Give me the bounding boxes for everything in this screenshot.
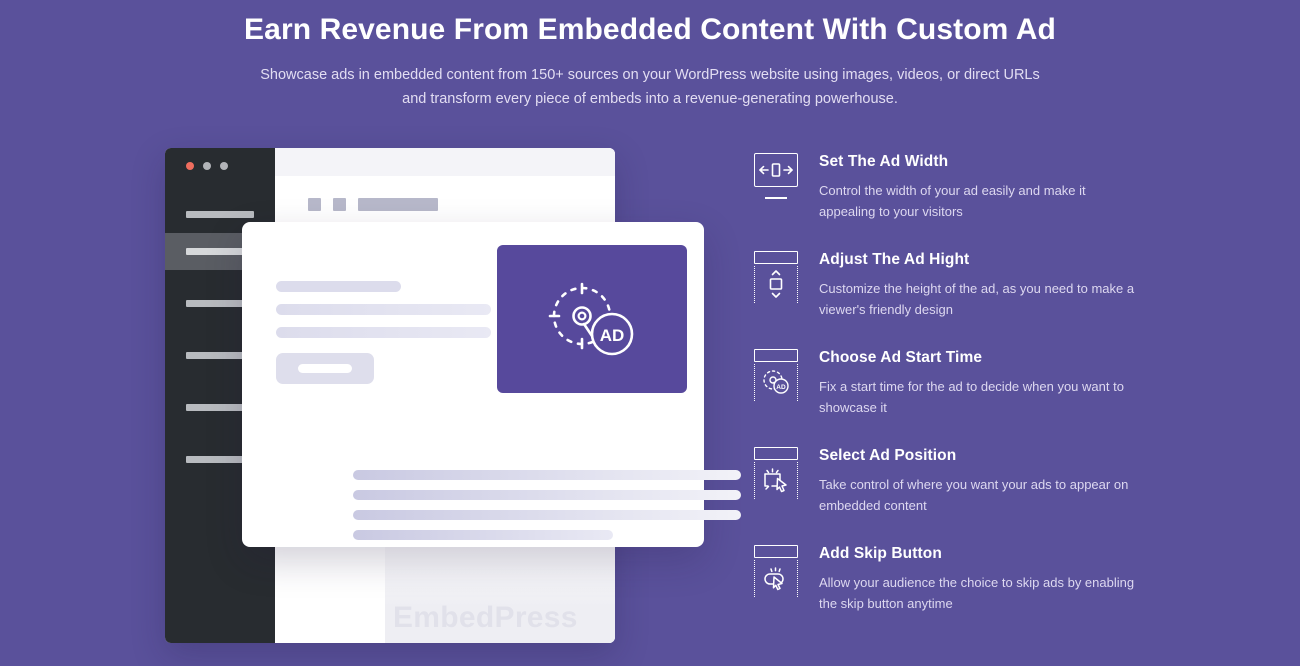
feature-text: Adjust The Ad Hight Customize the height…: [800, 249, 1137, 320]
text-placeholder-line: [276, 304, 491, 315]
height-arrows-icon: [766, 267, 786, 301]
text-placeholder-line: [276, 327, 491, 338]
ad-preview-card: AD: [497, 245, 687, 393]
embedpress-watermark: EmbedPress: [393, 601, 578, 635]
text-placeholder-line: [353, 530, 613, 540]
feature-item-ad-height: Adjust The Ad Hight Customize the height…: [752, 249, 1152, 320]
icon-glyph-wrap: [754, 559, 798, 597]
ad-position-icon: [752, 447, 800, 499]
browser-mockup-illustration: EmbedPress: [165, 148, 615, 643]
ad-badge-label: AD: [600, 326, 625, 345]
ad-mini-label: AD: [776, 384, 786, 391]
cta-button-placeholder[interactable]: [276, 353, 374, 384]
main-content: EmbedPress: [0, 143, 1300, 643]
feature-description: Customize the height of the ad, as you n…: [819, 278, 1137, 320]
feature-text: Add Skip Button Allow your audience the …: [800, 543, 1137, 614]
feature-item-ad-start-time: AD Choose Ad Start Time Fix a start time…: [752, 347, 1152, 418]
ad-start-time-icon: AD: [752, 349, 800, 401]
icon-glyph-wrap: [754, 153, 798, 187]
text-placeholder-line: [353, 470, 741, 480]
embed-preview-card: AD: [242, 222, 704, 547]
feature-title: Set The Ad Width: [819, 152, 1137, 172]
text-placeholder-line: [276, 281, 401, 292]
feature-description: Take control of where you want your ads …: [819, 474, 1137, 516]
page-title: Earn Revenue From Embedded Content With …: [0, 8, 1300, 52]
skip-button-icon: [752, 545, 800, 597]
text-placeholder-line: [353, 490, 741, 500]
window-controls: [186, 162, 228, 170]
click-target-icon: [760, 465, 792, 495]
feature-item-skip-button: Add Skip Button Allow your audience the …: [752, 543, 1152, 614]
feature-list: Set The Ad Width Control the width of yo…: [752, 151, 1152, 614]
page-subtitle: Showcase ads in embedded content from 15…: [250, 63, 1050, 111]
icon-underline: [765, 197, 787, 199]
feature-title: Adjust The Ad Hight: [819, 250, 1137, 270]
icon-top-bar: [754, 349, 798, 362]
skip-cursor-icon: [760, 564, 792, 592]
feature-text: Choose Ad Start Time Fix a start time fo…: [800, 347, 1137, 418]
browser-top-bar: [275, 148, 615, 176]
feature-item-ad-position: Select Ad Position Take control of where…: [752, 445, 1152, 516]
sidebar-item-bar: [186, 211, 254, 218]
width-arrows-icon: [756, 160, 796, 180]
feature-title: Choose Ad Start Time: [819, 348, 1137, 368]
page-header: Earn Revenue From Embedded Content With …: [0, 0, 1300, 111]
text-placeholder-line: [353, 510, 741, 520]
ad-width-icon: [752, 153, 800, 205]
clock-ad-icon: AD: [760, 368, 792, 396]
icon-top-bar: [754, 251, 798, 264]
icon-top-bar: [754, 447, 798, 460]
feature-description: Fix a start time for the ad to decide wh…: [819, 376, 1137, 418]
feature-text: Select Ad Position Take control of where…: [800, 445, 1137, 516]
feature-title: Add Skip Button: [819, 544, 1137, 564]
ad-clock-icon: AD: [546, 280, 638, 358]
content-toolbar-placeholder: [308, 198, 438, 211]
feature-title: Select Ad Position: [819, 446, 1137, 466]
toolbar-square-icon: [333, 198, 346, 211]
toolbar-bar-placeholder: [358, 198, 438, 211]
ad-height-icon: [752, 251, 800, 303]
feature-description: Allow your audience the choice to skip a…: [819, 572, 1137, 614]
maximize-dot-icon[interactable]: [220, 162, 228, 170]
feature-item-ad-width: Set The Ad Width Control the width of yo…: [752, 151, 1152, 222]
close-dot-icon[interactable]: [186, 162, 194, 170]
toolbar-square-icon: [308, 198, 321, 211]
feature-description: Control the width of your ad easily and …: [819, 180, 1137, 222]
icon-glyph-wrap: [754, 461, 798, 499]
icon-glyph-wrap: AD: [754, 363, 798, 401]
feature-text: Set The Ad Width Control the width of yo…: [800, 151, 1137, 222]
minimize-dot-icon[interactable]: [203, 162, 211, 170]
icon-glyph-wrap: [754, 265, 798, 303]
icon-top-bar: [754, 545, 798, 558]
